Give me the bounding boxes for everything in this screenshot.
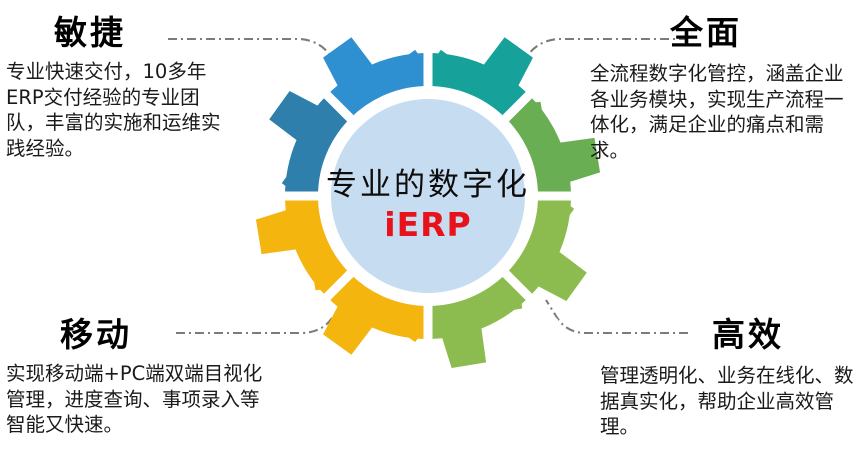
gear-svg [228,16,628,376]
feature-heading-efficient: 高效 [712,318,854,353]
feature-heading-comprehensive: 全面 [670,16,854,51]
feature-block-comprehensive: 全面 全流程数字化管控，涵盖企业各业务模块，实现生产流程一体化，满足企业的痛点和… [590,16,854,164]
feature-body-mobile: 实现移动端+PC端双端目视化管理，进度查询、事项录入等智能又快速。 [6,361,266,439]
infographic-canvas: 专业的数字化 iERP 敏捷 专业快速交付，10多年ERP交付经验的专业团队，丰… [0,0,854,471]
feature-heading-mobile: 移动 [60,318,266,353]
gear-graphic [228,16,628,376]
feature-heading-agile: 敏捷 [54,16,238,51]
feature-body-agile: 专业快速交付，10多年ERP交付经验的专业团队，丰富的实施和运维实践经验。 [6,59,238,163]
feature-block-efficient: 高效 管理透明化、业务在线化、数据真实化，帮助企业高效管理。 [600,318,854,440]
gear-hub [331,99,525,293]
feature-body-efficient: 管理透明化、业务在线化、数据真实化，帮助企业高效管理。 [600,363,854,441]
feature-block-agile: 敏捷 专业快速交付，10多年ERP交付经验的专业团队，丰富的实施和运维实践经验。 [6,16,238,162]
feature-body-comprehensive: 全流程数字化管控，涵盖企业各业务模块，实现生产流程一体化，满足企业的痛点和需求。 [590,61,854,165]
feature-block-mobile: 移动 实现移动端+PC端双端目视化管理，进度查询、事项录入等智能又快速。 [6,318,266,438]
